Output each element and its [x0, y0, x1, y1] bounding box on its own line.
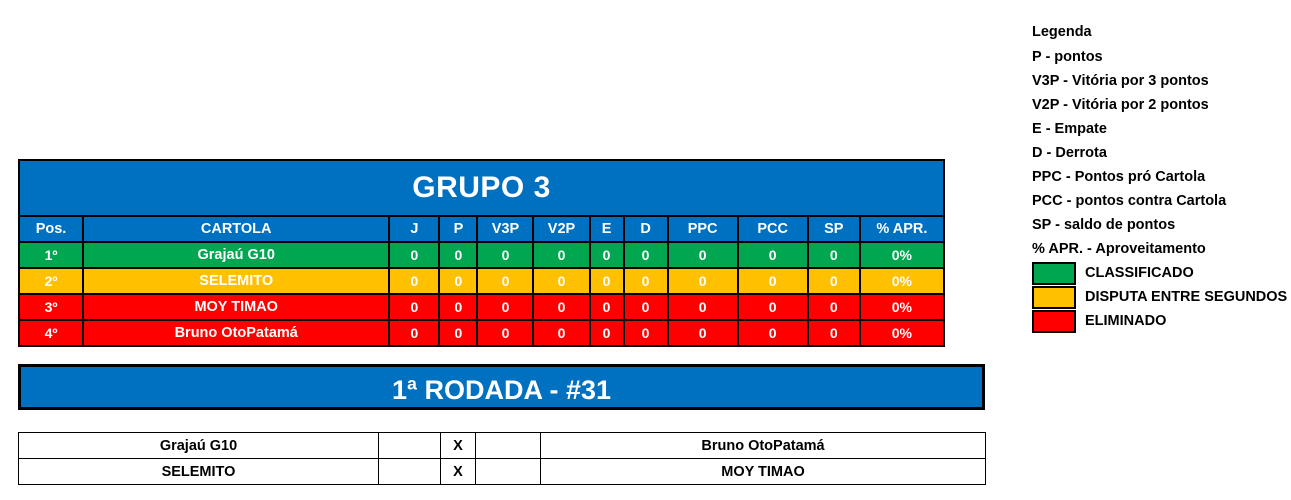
cell-d: 0 — [624, 320, 668, 346]
legend-entry-p: P - pontos — [1032, 45, 1291, 69]
cell-p: 0 — [439, 242, 477, 268]
group-title-row: GRUPO 3 — [19, 160, 944, 216]
legend-block: Legenda P - pontos V3P - Vitória por 3 p… — [1032, 20, 1291, 333]
match-row: SELEMITO X MOY TIMAO — [19, 459, 986, 485]
cell-v3p: 0 — [477, 268, 533, 294]
legend-swatch-green-icon — [1032, 262, 1076, 285]
cell-cartola: MOY TIMAO — [83, 294, 389, 320]
cell-sp: 0 — [808, 242, 860, 268]
legend-status-label: ELIMINADO — [1085, 313, 1166, 329]
column-header-pos[interactable]: Pos. — [19, 216, 83, 242]
cell-j: 0 — [389, 268, 439, 294]
legend-swatch-red-icon — [1032, 310, 1076, 333]
cell-v3p: 0 — [477, 320, 533, 346]
cell-apr: 0% — [860, 294, 944, 320]
match-away-team: MOY TIMAO — [541, 459, 986, 485]
match-away-team: Bruno OtoPatamá — [541, 433, 986, 459]
match-separator: X — [441, 433, 476, 459]
legend-status-disputa-entre-segundos: DISPUTA ENTRE SEGUNDOS — [1032, 285, 1291, 309]
cell-pcc: 0 — [738, 320, 808, 346]
match-home-score[interactable] — [379, 433, 441, 459]
match-separator: X — [441, 459, 476, 485]
cell-pos: 4º — [19, 320, 83, 346]
cell-j: 0 — [389, 242, 439, 268]
cell-cartola: Bruno OtoPatamá — [83, 320, 389, 346]
cell-d: 0 — [624, 242, 668, 268]
cell-pcc: 0 — [738, 242, 808, 268]
rodada-block: 1ª RODADA - #31 — [18, 364, 985, 410]
column-header-pcc[interactable]: PCC — [738, 216, 808, 242]
cell-e: 0 — [590, 320, 624, 346]
legend-entry-e: E - Empate — [1032, 117, 1291, 141]
cell-v2p: 0 — [533, 294, 589, 320]
legend-entry-pcc: PCC - pontos contra Cartola — [1032, 189, 1291, 213]
legend-entry-v3p: V3P - Vitória por 3 pontos — [1032, 69, 1291, 93]
table-row: 2º SELEMITO 0 0 0 0 0 0 0 0 0 0% — [19, 268, 944, 294]
cell-pos: 2º — [19, 268, 83, 294]
cell-j: 0 — [389, 320, 439, 346]
cell-e: 0 — [590, 294, 624, 320]
rodada-title: 1ª RODADA - #31 — [18, 364, 985, 410]
matches-table: Grajaú G10 X Bruno OtoPatamá SELEMITO X … — [18, 432, 986, 485]
cell-pcc: 0 — [738, 268, 808, 294]
column-header-e[interactable]: E — [590, 216, 624, 242]
match-home-score[interactable] — [379, 459, 441, 485]
cell-sp: 0 — [808, 294, 860, 320]
table-row: 3º MOY TIMAO 0 0 0 0 0 0 0 0 0 0% — [19, 294, 944, 320]
match-away-score[interactable] — [476, 459, 541, 485]
column-header-apr[interactable]: % APR. — [860, 216, 944, 242]
cell-e: 0 — [590, 268, 624, 294]
column-header-sp[interactable]: SP — [808, 216, 860, 242]
cell-apr: 0% — [860, 242, 944, 268]
cell-ppc: 0 — [668, 242, 738, 268]
cell-v3p: 0 — [477, 242, 533, 268]
legend-status-classificado: CLASSIFICADO — [1032, 261, 1291, 285]
cell-v2p: 0 — [533, 320, 589, 346]
legend-entry-v2p: V2P - Vitória por 2 pontos — [1032, 93, 1291, 117]
legend-swatch-yellow-icon — [1032, 286, 1076, 309]
column-header-cartola[interactable]: CARTOLA — [83, 216, 389, 242]
cell-pcc: 0 — [738, 294, 808, 320]
legend-entry-sp: SP - saldo de pontos — [1032, 213, 1291, 237]
legend-status-label: DISPUTA ENTRE SEGUNDOS — [1085, 289, 1287, 305]
cell-apr: 0% — [860, 268, 944, 294]
legend-status-eliminado: ELIMINADO — [1032, 309, 1291, 333]
group-title: GRUPO 3 — [19, 160, 944, 216]
cell-sp: 0 — [808, 268, 860, 294]
cell-p: 0 — [439, 268, 477, 294]
cell-e: 0 — [590, 242, 624, 268]
cell-ppc: 0 — [668, 320, 738, 346]
cell-v2p: 0 — [533, 242, 589, 268]
legend-entry-apr: % APR. - Aproveitamento — [1032, 237, 1291, 261]
matches-block: Grajaú G10 X Bruno OtoPatamá SELEMITO X … — [18, 432, 985, 485]
cell-d: 0 — [624, 294, 668, 320]
cell-sp: 0 — [808, 320, 860, 346]
legend-title: Legenda — [1032, 20, 1291, 45]
cell-p: 0 — [439, 294, 477, 320]
table-row: 1º Grajaú G10 0 0 0 0 0 0 0 0 0 0% — [19, 242, 944, 268]
standings-table: GRUPO 3 Pos. CARTOLA J P V3P V2P E D PPC… — [18, 159, 945, 347]
cell-d: 0 — [624, 268, 668, 294]
cell-ppc: 0 — [668, 268, 738, 294]
cell-ppc: 0 — [668, 294, 738, 320]
cell-cartola: SELEMITO — [83, 268, 389, 294]
cell-p: 0 — [439, 320, 477, 346]
cell-pos: 1º — [19, 242, 83, 268]
column-header-v2p[interactable]: V2P — [533, 216, 589, 242]
cell-apr: 0% — [860, 320, 944, 346]
cell-v3p: 0 — [477, 294, 533, 320]
cell-v2p: 0 — [533, 268, 589, 294]
match-home-team: Grajaú G10 — [19, 433, 379, 459]
column-header-ppc[interactable]: PPC — [668, 216, 738, 242]
cell-j: 0 — [389, 294, 439, 320]
cell-cartola: Grajaú G10 — [83, 242, 389, 268]
legend-status-label: CLASSIFICADO — [1085, 265, 1194, 281]
column-header-v3p[interactable]: V3P — [477, 216, 533, 242]
standings-block: GRUPO 3 Pos. CARTOLA J P V3P V2P E D PPC… — [18, 159, 945, 347]
match-row: Grajaú G10 X Bruno OtoPatamá — [19, 433, 986, 459]
column-header-d[interactable]: D — [624, 216, 668, 242]
legend-entry-d: D - Derrota — [1032, 141, 1291, 165]
column-header-j[interactable]: J — [389, 216, 439, 242]
legend-entry-ppc: PPC - Pontos pró Cartola — [1032, 165, 1291, 189]
match-away-score[interactable] — [476, 433, 541, 459]
cell-pos: 3º — [19, 294, 83, 320]
match-home-team: SELEMITO — [19, 459, 379, 485]
column-header-p[interactable]: P — [439, 216, 477, 242]
standings-header-row: Pos. CARTOLA J P V3P V2P E D PPC PCC SP … — [19, 216, 944, 242]
table-row: 4º Bruno OtoPatamá 0 0 0 0 0 0 0 0 0 0% — [19, 320, 944, 346]
